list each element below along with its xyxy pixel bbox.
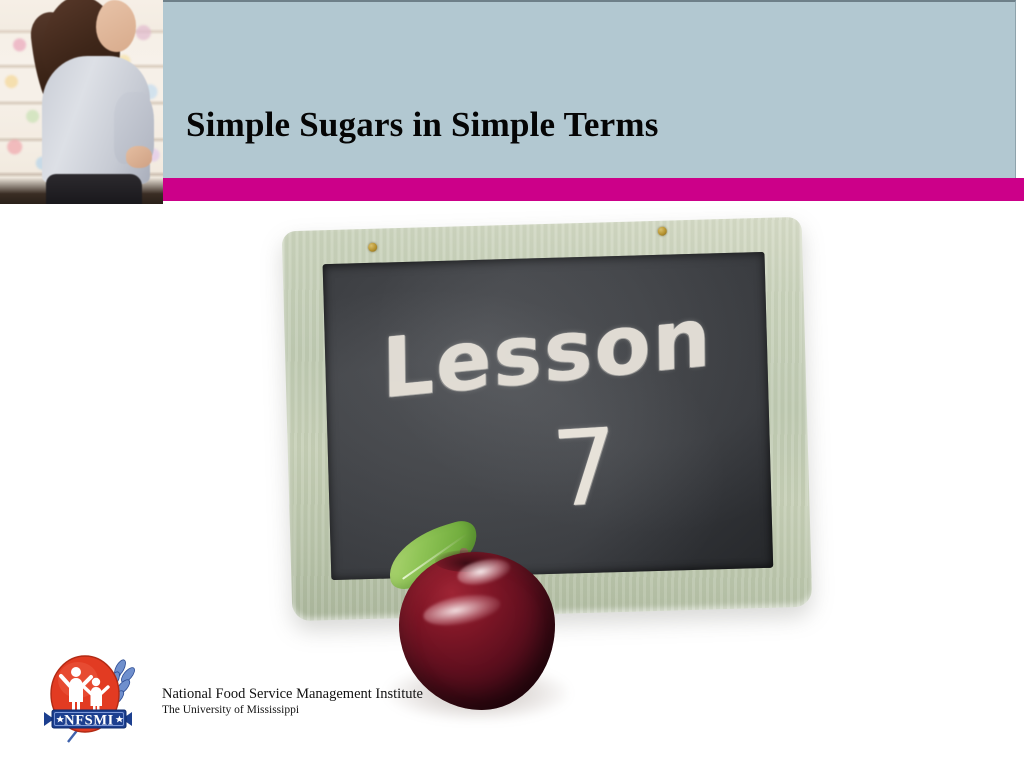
footer-text-block: National Food Service Management Institu… [162, 678, 423, 718]
page-title: Simple Sugars in Simple Terms [186, 107, 659, 144]
presentation-slide: Simple Sugars in Simple Terms Lesson 7 [0, 0, 1024, 768]
header-band [163, 0, 1016, 178]
face-shape [96, 0, 136, 52]
hand-shape [126, 146, 152, 168]
pants-shape [46, 174, 142, 204]
accent-band [163, 178, 1024, 201]
chalk-lesson-number: 7 [549, 405, 623, 531]
logo-wordmark: NFSMI [64, 713, 114, 729]
organization-name: National Food Service Management Institu… [162, 686, 423, 703]
organization-affiliation: The University of Mississippi [162, 704, 423, 718]
logo-banner: NFSMI [44, 710, 132, 729]
grocery-shopper-photo [0, 0, 163, 204]
nfsmi-logo-icon: NFSMI [36, 650, 148, 746]
footer: NFSMI National Food Service Management I… [36, 650, 423, 746]
photo-softening-layer [0, 0, 163, 204]
shopper-figure [22, 0, 154, 204]
